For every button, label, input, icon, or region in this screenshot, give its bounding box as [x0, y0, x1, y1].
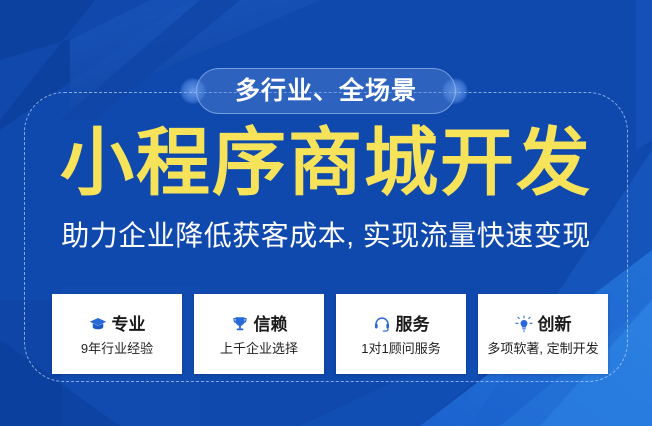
feature-card-service[interactable]: 服务 1对1顾问服务	[336, 294, 466, 374]
feature-card-desc: 多项软著, 定制开发	[487, 342, 598, 355]
feature-card-title: 专业	[112, 316, 146, 333]
feature-card-title: 创新	[538, 316, 572, 333]
feature-card-header: 信赖	[231, 313, 288, 335]
page-subtitle: 助力企业降低获客成本, 实现流量快速变现	[0, 222, 652, 250]
feature-card-title: 服务	[396, 316, 430, 333]
headline-badge: 多行业、全场景	[196, 68, 456, 114]
feature-card-innovation[interactable]: 创新 多项软著, 定制开发	[478, 294, 608, 374]
promo-banner: 多行业、全场景 小程序商城开发 助力企业降低获客成本, 实现流量快速变现 专业 …	[0, 0, 652, 426]
feature-card-header: 服务	[373, 313, 430, 335]
trophy-icon	[231, 315, 249, 333]
page-title: 小程序商城开发	[0, 126, 652, 200]
feature-card-professional[interactable]: 专业 9年行业经验	[52, 294, 182, 374]
feature-card-trust[interactable]: 信赖 上千企业选择	[194, 294, 324, 374]
feature-card-desc: 9年行业经验	[81, 342, 153, 355]
feature-card-header: 专业	[89, 313, 146, 335]
headline-badge-label: 多行业、全场景	[235, 79, 417, 104]
lightbulb-icon	[515, 315, 533, 333]
headset-icon	[373, 315, 391, 333]
feature-card-header: 创新	[515, 313, 572, 335]
feature-card-list: 专业 9年行业经验 信赖 上千企业选择	[52, 294, 608, 374]
graduation-cap-icon	[89, 315, 107, 333]
feature-card-title: 信赖	[254, 316, 288, 333]
feature-card-desc: 上千企业选择	[220, 342, 298, 355]
feature-card-desc: 1对1顾问服务	[361, 342, 440, 355]
